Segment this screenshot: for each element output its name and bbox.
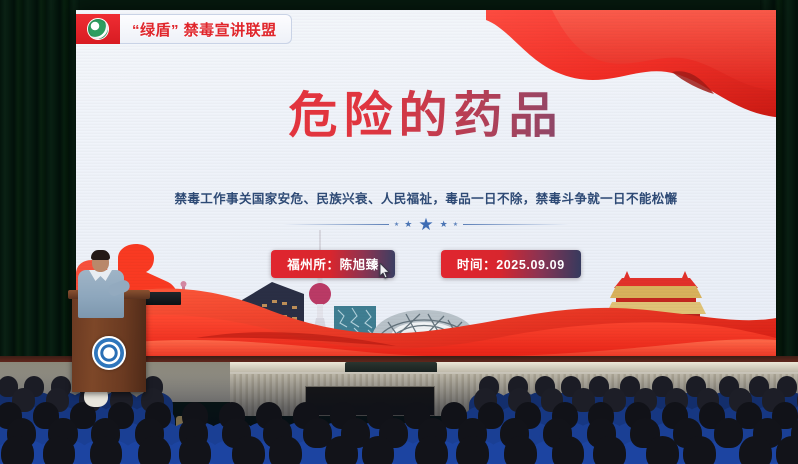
star-divider-small-2: ★ [440, 220, 448, 229]
star-divider-big: ★ [418, 216, 433, 233]
audience-member-head [232, 436, 265, 464]
audience-member-head [362, 436, 395, 464]
star-divider-dot-1: ★ [394, 222, 399, 228]
audience-member-head [739, 436, 772, 464]
audience-member-head [415, 436, 448, 464]
alliance-logo [76, 14, 120, 44]
presenter-badge: 福州所：陈旭臻 [271, 250, 395, 278]
slide-header-title: “绿盾” 禁毒宣讲联盟 [120, 14, 292, 44]
audience-member-head [43, 436, 76, 464]
audience-member-head [90, 436, 123, 464]
date-badge: 时间：2025.09.09 [441, 250, 581, 278]
audience-member-head [179, 436, 212, 464]
audience-member-head [138, 436, 171, 464]
audience-member-head [552, 436, 585, 464]
audience-member-head [269, 436, 302, 464]
star-divider-small-1: ★ [404, 220, 412, 229]
slide-info-badges: 福州所：陈旭臻 时间：2025.09.09 [76, 250, 776, 278]
divider-rule-left [283, 224, 389, 225]
slide-main-title: 危险的药品 [76, 88, 776, 144]
mouse-pointer-icon [379, 263, 390, 284]
audience-member-head [456, 436, 489, 464]
school-crest-icon [92, 336, 126, 370]
star-divider-dot-2: ★ [453, 222, 458, 228]
audience-member-head [646, 436, 679, 464]
audience-member-head [593, 436, 626, 464]
slide-illustration [76, 222, 776, 362]
projection-screen: “绿盾” 禁毒宣讲联盟 危险的药品 禁毒工作事关国家安危、民族兴衰、人民福祉，毒… [76, 10, 776, 362]
auditorium-scene: “绿盾” 禁毒宣讲联盟 危险的药品 禁毒工作事关国家安危、民族兴衰、人民福祉，毒… [0, 0, 798, 464]
audience-member-head [504, 436, 537, 464]
green-shield-emblem-icon [87, 18, 109, 40]
divider-rule-right [463, 224, 569, 225]
audience-member-head [325, 436, 358, 464]
audience-member-head [714, 418, 743, 448]
audience-member-head [1, 436, 34, 464]
audience-member-head [683, 436, 716, 464]
slide-header-chip: “绿盾” 禁毒宣讲联盟 [76, 14, 292, 44]
slide-subtitle: 禁毒工作事关国家安危、民族兴衰、人民福祉，毒品一日不除，禁毒斗争就一日不能松懈 [76, 188, 776, 207]
star-divider: ★ ★ ★ ★ ★ [76, 216, 776, 233]
